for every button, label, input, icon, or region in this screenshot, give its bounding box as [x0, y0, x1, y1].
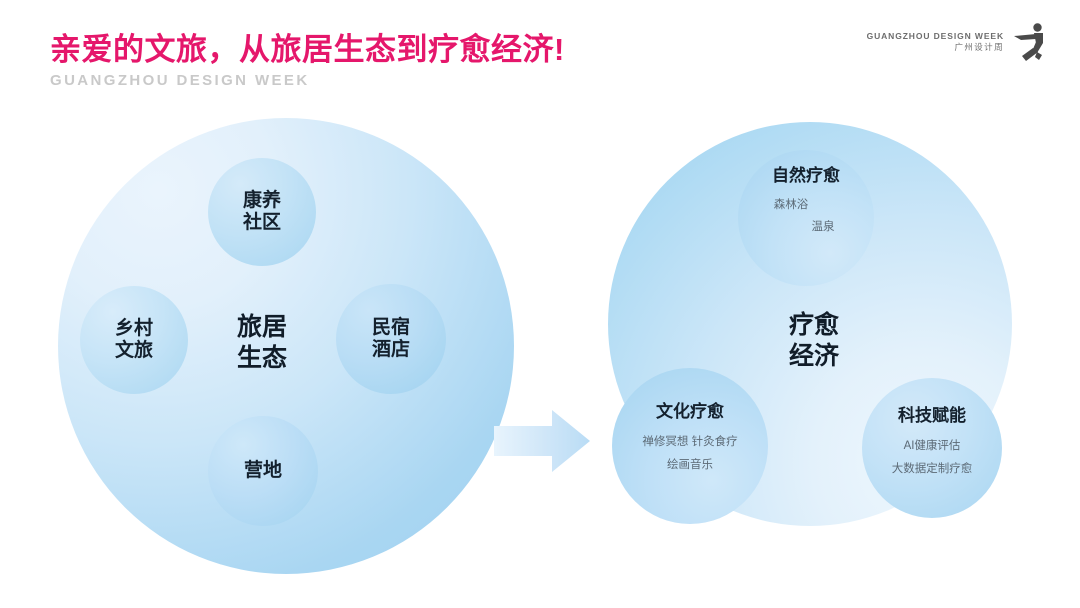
- bubble-label-line1: 营地: [244, 460, 282, 481]
- slide-header: 亲爱的文旅，从旅居生态到疗愈经济! GUANGZHOU DESIGN WEEK …: [0, 0, 1080, 110]
- running-figure-icon: [1012, 22, 1046, 62]
- diagram-stage: 康养 社区 乡村 文旅 民宿 酒店 营地 旅居 生态: [0, 96, 1080, 608]
- bubble-sublabel-2: 温泉: [812, 218, 835, 234]
- bubble-ziran-liaoyu[interactable]: 自然疗愈 森林浴 温泉: [738, 150, 874, 286]
- right-cluster-center-label: 疗愈 经济: [752, 298, 876, 384]
- bubble-wenhua-liaoyu[interactable]: 文化疗愈 禅修冥想 针灸食疗 绘画音乐: [612, 368, 768, 524]
- bubble-sublabel-1: 禅修冥想 针灸食疗: [642, 433, 737, 449]
- bubble-minsu-jiudian[interactable]: 民宿 酒店: [336, 284, 446, 394]
- bubble-sublabel-1: 森林浴: [774, 196, 809, 212]
- left-cluster-center-label: 旅居 生态: [204, 300, 320, 386]
- right-arrow-icon: [494, 404, 592, 478]
- bubble-label-line2: 酒店: [372, 339, 410, 360]
- bubble-label-line2: 文旅: [115, 340, 153, 361]
- brand-name-cn: 广州设计周: [954, 42, 1004, 53]
- slide-canvas: 亲爱的文旅，从旅居生态到疗愈经济! GUANGZHOU DESIGN WEEK …: [0, 0, 1080, 608]
- bubble-label: 民宿 酒店: [372, 317, 410, 362]
- page-title: 亲爱的文旅，从旅居生态到疗愈经济!: [50, 24, 565, 69]
- bubble-sublabel-2: 绘画音乐: [667, 456, 713, 472]
- bubble-label: 科技赋能: [898, 406, 966, 426]
- bubble-yingdi[interactable]: 营地: [208, 416, 318, 526]
- bubble-xiangcun-wenlv[interactable]: 乡村 文旅: [80, 286, 188, 394]
- brand-name-en: GUANGZHOU DESIGN WEEK: [867, 31, 1004, 42]
- bubble-label: 自然疗愈: [772, 166, 840, 186]
- brand-wordmark: GUANGZHOU DESIGN WEEK 广州设计周: [867, 31, 1004, 54]
- bubble-label-line2: 社区: [243, 212, 281, 233]
- center-label-line2: 生态: [237, 343, 287, 374]
- center-label-line1: 旅居: [237, 312, 287, 343]
- bubble-sublabel-1: AI健康评估: [904, 437, 961, 453]
- brand-logo: GUANGZHOU DESIGN WEEK 广州设计周: [867, 22, 1046, 62]
- center-label-line1: 疗愈: [789, 310, 839, 341]
- center-label-line2: 经济: [789, 341, 839, 372]
- bubble-label: 营地: [244, 460, 282, 482]
- bubble-keji-funeng[interactable]: 科技赋能 AI健康评估 大数据定制疗愈: [862, 378, 1002, 518]
- bubble-label: 文化疗愈: [656, 402, 724, 422]
- bubble-label-line1: 民宿: [372, 317, 410, 338]
- bubble-kangyang-shequ[interactable]: 康养 社区: [208, 158, 316, 266]
- bubble-label-line1: 乡村: [115, 318, 153, 339]
- bubble-label-line1: 康养: [243, 190, 281, 211]
- bubble-label: 康养 社区: [243, 190, 281, 235]
- page-subtitle: GUANGZHOU DESIGN WEEK: [50, 72, 310, 89]
- bubble-label: 乡村 文旅: [115, 318, 153, 363]
- bubble-sublabel-2: 大数据定制疗愈: [892, 460, 973, 476]
